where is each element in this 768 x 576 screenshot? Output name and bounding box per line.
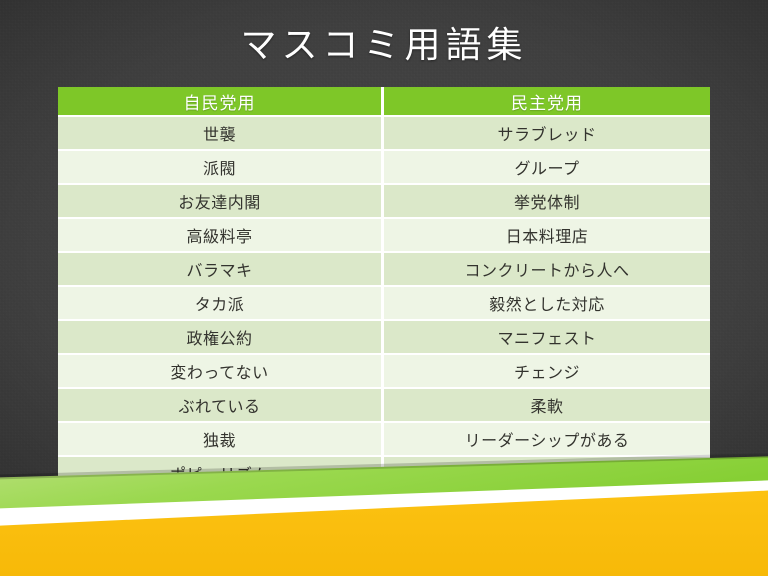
- slide: マスコミ用語集 自民党用 民主党用 世襲サラブレッド派閥グループお友達内閣挙党体…: [0, 0, 768, 576]
- cell-dpj-term: 日本料理店: [384, 217, 710, 251]
- table-body: 世襲サラブレッド派閥グループお友達内閣挙党体制高級料亭日本料理店バラマキコンクリ…: [58, 115, 710, 557]
- table-row: 独裁リーダーシップがある: [58, 421, 710, 455]
- cell-dpj-term: グループ: [384, 149, 710, 183]
- cell-ldp-term: 知る権利を守れ: [58, 523, 384, 557]
- table-row: 知る権利を守れ尖閣ビデオ流出は許せない: [58, 523, 710, 557]
- cell-dpj-term: 毅然とした対応: [384, 285, 710, 319]
- column-header-ldp: 自民党用: [58, 87, 384, 115]
- cell-ldp-term: 閣内不一致: [58, 489, 384, 523]
- table-row: 世襲サラブレッド: [58, 115, 710, 149]
- cell-dpj-term: 挙党体制: [384, 183, 710, 217]
- table-row: 閣内不一致閣内で様々な意見がある: [58, 489, 710, 523]
- table-row: ぶれている柔軟: [58, 387, 710, 421]
- cell-dpj-term: 民意: [384, 455, 710, 489]
- cell-ldp-term: 変わってない: [58, 353, 384, 387]
- cell-ldp-term: ポピュリズム: [58, 455, 384, 489]
- cell-dpj-term: リーダーシップがある: [384, 421, 710, 455]
- cell-dpj-term: コンクリートから人へ: [384, 251, 710, 285]
- cell-ldp-term: 政権公約: [58, 319, 384, 353]
- cell-dpj-term: チェンジ: [384, 353, 710, 387]
- page-title: マスコミ用語集: [0, 20, 768, 70]
- glossary-table-container: 自民党用 民主党用 世襲サラブレッド派閥グループお友達内閣挙党体制高級料亭日本料…: [58, 87, 710, 557]
- cell-ldp-term: タカ派: [58, 285, 384, 319]
- cell-dpj-term: サラブレッド: [384, 115, 710, 149]
- cell-dpj-term: 柔軟: [384, 387, 710, 421]
- table-header-row: 自民党用 民主党用: [58, 87, 710, 115]
- cell-dpj-term: 尖閣ビデオ流出は許せない: [384, 523, 710, 557]
- table-row: 変わってないチェンジ: [58, 353, 710, 387]
- cell-ldp-term: ぶれている: [58, 387, 384, 421]
- table-row: 高級料亭日本料理店: [58, 217, 710, 251]
- cell-ldp-term: 世襲: [58, 115, 384, 149]
- cell-dpj-term: マニフェスト: [384, 319, 710, 353]
- cell-ldp-term: バラマキ: [58, 251, 384, 285]
- table-header: 自民党用 民主党用: [58, 87, 710, 115]
- table-row: 派閥グループ: [58, 149, 710, 183]
- table-row: ポピュリズム民意: [58, 455, 710, 489]
- cell-ldp-term: 高級料亭: [58, 217, 384, 251]
- table-row: バラマキコンクリートから人へ: [58, 251, 710, 285]
- table-row: タカ派毅然とした対応: [58, 285, 710, 319]
- glossary-table: 自民党用 民主党用 世襲サラブレッド派閥グループお友達内閣挙党体制高級料亭日本料…: [58, 87, 710, 557]
- cell-ldp-term: 独裁: [58, 421, 384, 455]
- table-row: お友達内閣挙党体制: [58, 183, 710, 217]
- cell-dpj-term: 閣内で様々な意見がある: [384, 489, 710, 523]
- cell-ldp-term: お友達内閣: [58, 183, 384, 217]
- cell-ldp-term: 派閥: [58, 149, 384, 183]
- table-row: 政権公約マニフェスト: [58, 319, 710, 353]
- column-header-dpj: 民主党用: [384, 87, 710, 115]
